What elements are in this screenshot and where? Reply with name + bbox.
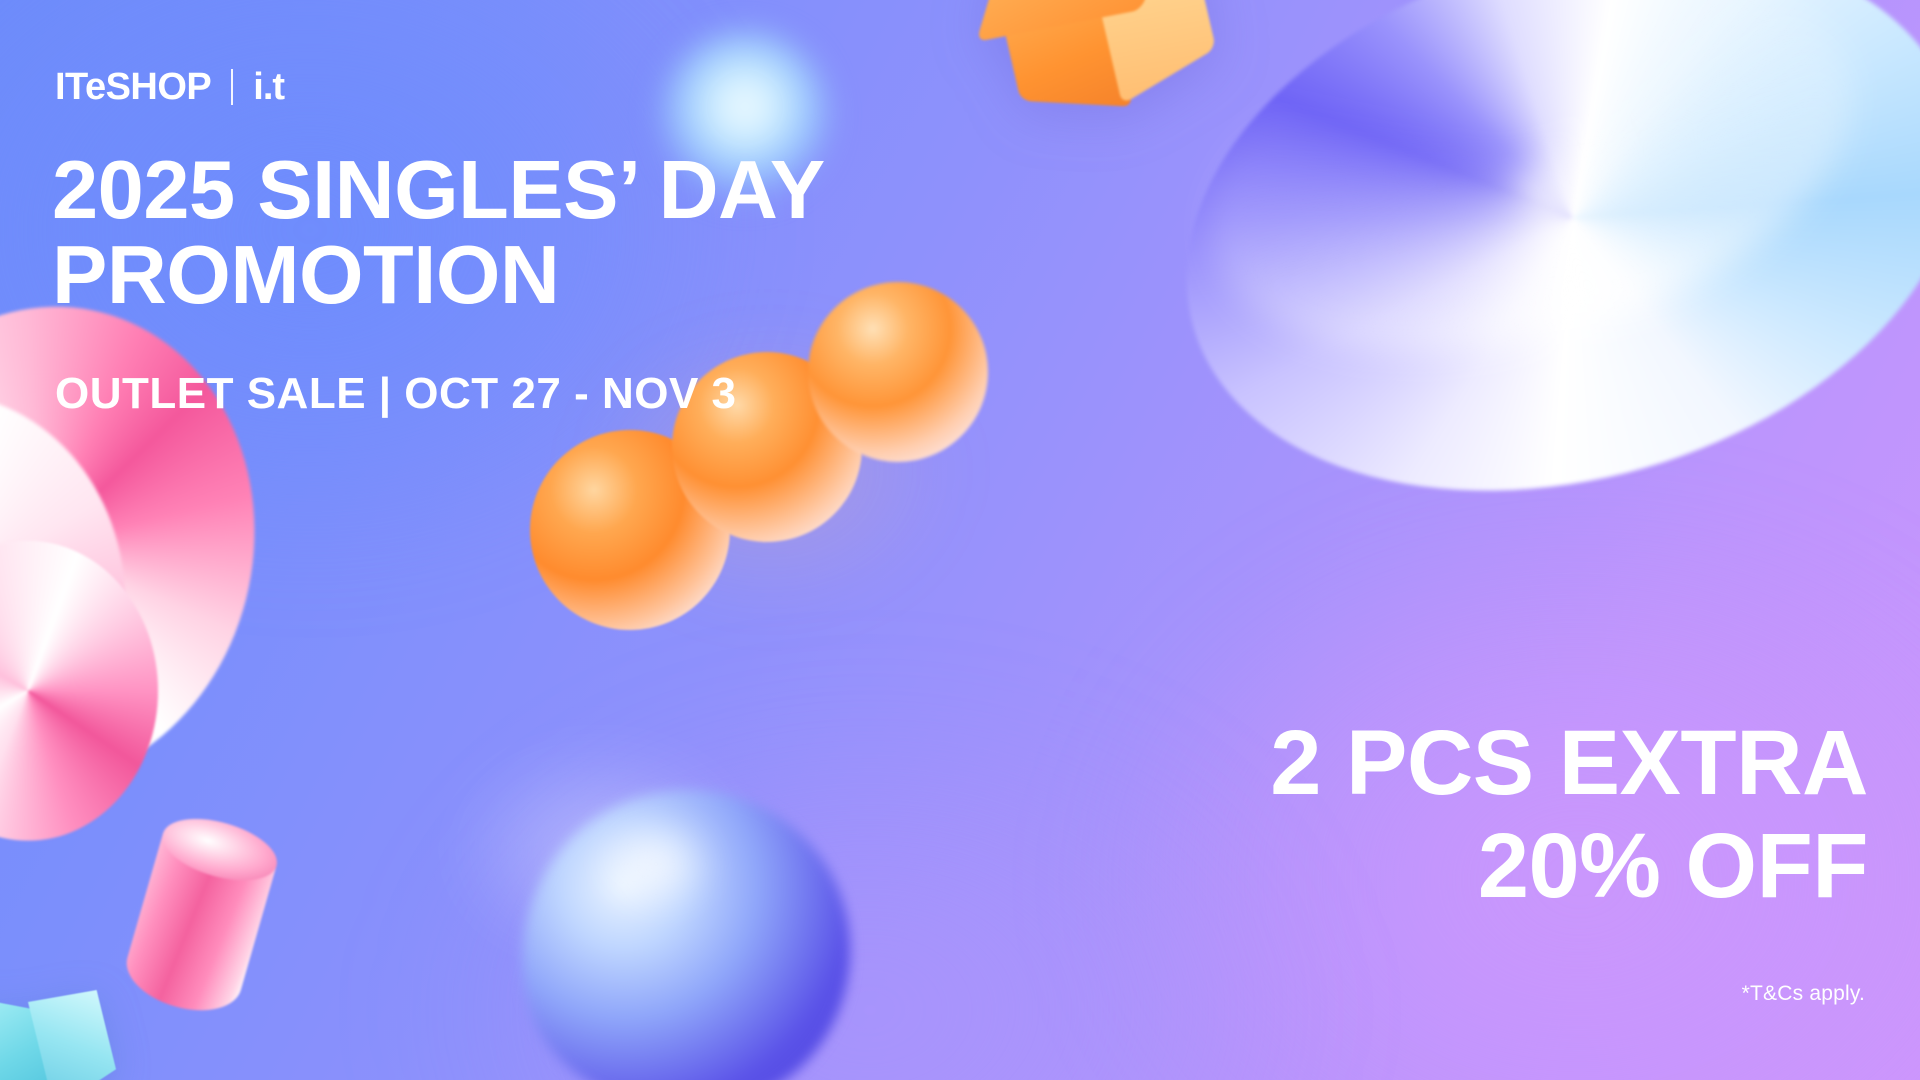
brand-sub-brand: i.t xyxy=(253,68,284,106)
promo-offer-line-1: 2 PCS EXTRA xyxy=(1270,712,1868,815)
brand-divider xyxy=(231,69,233,105)
terms-disclaimer: *T&Cs apply. xyxy=(1742,982,1865,1006)
promo-offer-line-2: 20% OFF xyxy=(1270,815,1868,918)
promotional-banner: ITeSHOP i.t 2025 SINGLES’ DAY PROMOTION … xyxy=(0,0,1920,1080)
brand-logo[interactable]: ITeSHOP i.t xyxy=(55,68,284,106)
banner-content: ITeSHOP i.t 2025 SINGLES’ DAY PROMOTION … xyxy=(0,0,1920,1080)
brand-shop-name: ITeSHOP xyxy=(55,68,211,106)
sale-period-subtitle: OUTLET SALE | OCT 27 - NOV 3 xyxy=(55,372,737,416)
promo-offer: 2 PCS EXTRA 20% OFF xyxy=(1270,712,1868,918)
page-title: 2025 SINGLES’ DAY PROMOTION xyxy=(52,148,1052,317)
